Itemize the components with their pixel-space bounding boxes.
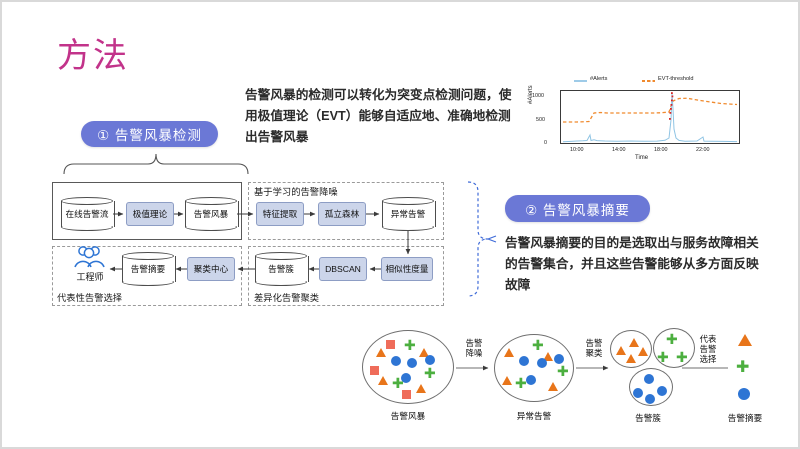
arrow-cluster-label: 告警 聚类 <box>576 338 612 358</box>
shape-cross: ✚ <box>557 366 569 377</box>
chart-xtick-2200: 22:00 <box>696 147 710 153</box>
arrow-cluster <box>576 362 612 374</box>
slide-canvas: 方法 ① 告警风暴检测 告警风暴的检测可以转化为突变点检测问题，使用极值理论（E… <box>0 0 800 449</box>
arrow-denoise <box>456 362 492 374</box>
legend-swatch-alerts <box>574 80 587 82</box>
callout-2-paragraph: 告警风暴摘要的目的是选取出与服务故障相关的告警集合，并且这些告警能够从多方面反映… <box>505 233 763 296</box>
architecture-connectors <box>52 182 492 307</box>
chart-plot-area <box>560 90 740 144</box>
shape-circle <box>537 358 547 368</box>
shape-circle <box>657 386 667 396</box>
shape-square <box>386 340 395 349</box>
shape-triangle <box>616 346 626 355</box>
shape-circle <box>519 356 529 366</box>
arrow-denoise-label: 告警 降噪 <box>456 338 492 358</box>
shape-cross: ✚ <box>515 378 527 389</box>
callout-2-pill[interactable]: ② 告警风暴摘要 <box>505 195 650 222</box>
legend-label-evt-threshold: EVT-threshold <box>658 76 693 82</box>
architecture-diagram: 基于学习的告警降噪 代表性告警选择 差异化告警聚类 在线告警流 极值理论 告警风… <box>52 182 492 307</box>
shape-circle <box>633 388 643 398</box>
chart-ytick-0: 0 <box>544 140 547 146</box>
caption-anomalous-alerts: 异常告警 <box>494 410 574 422</box>
arrow-denoise-label-line1: 告警 <box>466 338 483 348</box>
caption-alert-storm: 告警风暴 <box>362 410 454 422</box>
chart-series-svg <box>561 91 739 143</box>
shape-circle <box>644 374 654 384</box>
arrow-representative-label-line1: 代表 <box>700 334 717 344</box>
chart-xtick-1000: 10:00 <box>570 147 584 153</box>
alerts-evt-chart: #Alerts EVT-threshold #Alerts 0 500 1000 <box>530 74 765 166</box>
shape-triangle <box>416 384 426 393</box>
slide-border-top <box>0 0 800 2</box>
shape-cross: ✚ <box>736 362 749 373</box>
slide-border-left <box>0 0 2 449</box>
shape-cross: ✚ <box>666 334 678 345</box>
arrow-denoise-label-line2: 降噪 <box>466 348 483 358</box>
arrow-representative-label-line3: 选择 <box>700 354 717 364</box>
legend-label-alerts: #Alerts <box>590 76 607 82</box>
shape-triangle <box>502 376 512 385</box>
chart-xlabel: Time <box>635 155 648 161</box>
shape-cross: ✚ <box>657 352 669 363</box>
summary-illustration: ✚ ✚ ✚ 告警风暴 告警 降噪 ✚ ✚ ✚ 异常告警 <box>352 318 792 430</box>
arrow-representative-label: 代表 告警 选择 <box>688 334 728 364</box>
shape-cross: ✚ <box>424 368 436 379</box>
legend-swatch-evt-threshold <box>642 80 655 82</box>
chart-ytick-500: 500 <box>536 117 545 123</box>
shape-triangle <box>378 376 388 385</box>
chart-ytick-1000: 1000 <box>532 93 544 99</box>
shape-cross: ✚ <box>532 340 544 351</box>
shape-square <box>370 366 379 375</box>
chart-xtick-1400: 14:00 <box>612 147 626 153</box>
arrow-cluster-label-line2: 聚类 <box>586 348 603 358</box>
callout-1-paragraph: 告警风暴的检测可以转化为突变点检测问题，使用极值理论（EVT）能够自适应地、准确… <box>245 85 523 148</box>
shape-circle <box>425 355 435 365</box>
shape-triangle <box>738 334 752 346</box>
shape-circle <box>526 375 536 385</box>
callout-1-pill[interactable]: ① 告警风暴检测 <box>81 121 218 147</box>
arrow-representative-label-line2: 告警 <box>700 344 717 354</box>
chart-line-alerts <box>563 94 737 142</box>
shape-circle <box>645 394 655 404</box>
arrow-cluster-label-line1: 告警 <box>586 338 603 348</box>
shape-circle <box>738 388 750 400</box>
shape-cross: ✚ <box>404 340 416 351</box>
chart-line-evt-threshold <box>563 98 737 122</box>
caption-alert-summary: 告警摘要 <box>714 412 776 424</box>
page-title: 方法 <box>57 36 129 76</box>
brace-callout-1 <box>60 150 250 176</box>
caption-alert-clusters: 告警簇 <box>618 412 678 424</box>
shape-circle <box>407 358 417 368</box>
shape-triangle <box>638 347 648 356</box>
shape-triangle <box>504 348 514 357</box>
shape-square <box>402 390 411 399</box>
shape-triangle <box>629 338 639 347</box>
shape-triangle <box>548 382 558 391</box>
shape-cross: ✚ <box>392 378 404 389</box>
chart-xtick-1800: 18:00 <box>654 147 668 153</box>
shape-triangle <box>376 348 386 357</box>
shape-circle <box>391 356 401 366</box>
shape-triangle <box>626 354 636 363</box>
